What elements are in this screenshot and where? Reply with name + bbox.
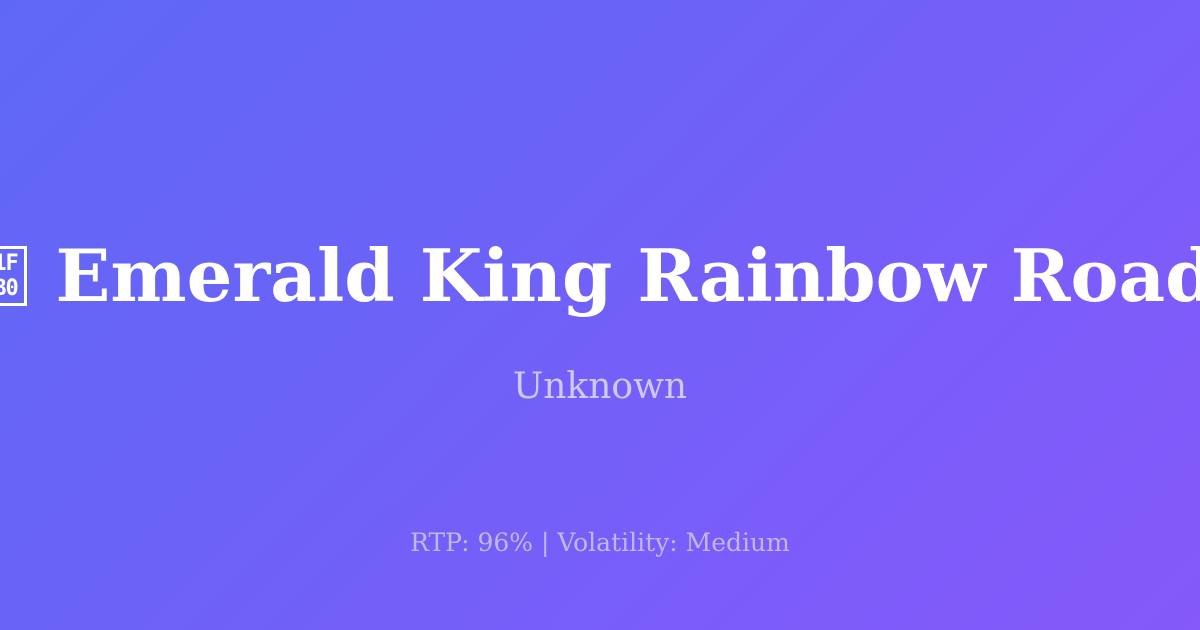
emoji-codepoint-bottom: B0 <box>0 276 18 301</box>
og-preview-card: 1F B0 Emerald King Rainbow Road Unknown … <box>0 0 1200 630</box>
title-row: 1F B0 Emerald King Rainbow Road <box>0 228 1200 324</box>
emoji-codepoint-top: 1F <box>0 251 18 276</box>
card-subtitle: Unknown <box>0 364 1200 410</box>
slot-machine-emoji-icon: 1F B0 <box>0 246 27 306</box>
page-title: Emerald King Rainbow Road <box>56 230 1200 322</box>
card-meta-line: RTP: 96% | Volatility: Medium <box>0 528 1200 558</box>
